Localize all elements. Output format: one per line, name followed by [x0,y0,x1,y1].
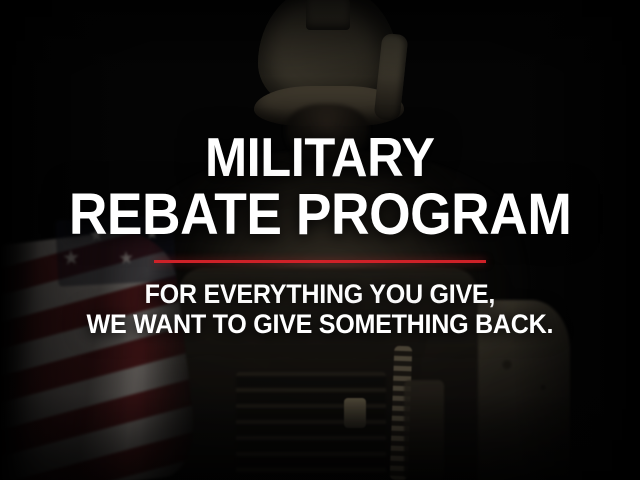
subheadline-line-1: FOR EVERYTHING YOU GIVE, [87,279,554,310]
subheadline-line-2: WE WANT TO GIVE SOMETHING BACK. [87,309,554,340]
military-rebate-banner: MILITARY REBATE PROGRAM FOR EVERYTHING Y… [0,0,640,480]
subheadline: FOR EVERYTHING YOU GIVE, WE WANT TO GIVE… [87,279,554,340]
headline-line-1: MILITARY [205,131,435,185]
red-divider-rule [154,260,486,263]
banner-content: MILITARY REBATE PROGRAM FOR EVERYTHING Y… [0,0,640,480]
headline-line-2: REBATE PROGRAM [69,187,571,244]
